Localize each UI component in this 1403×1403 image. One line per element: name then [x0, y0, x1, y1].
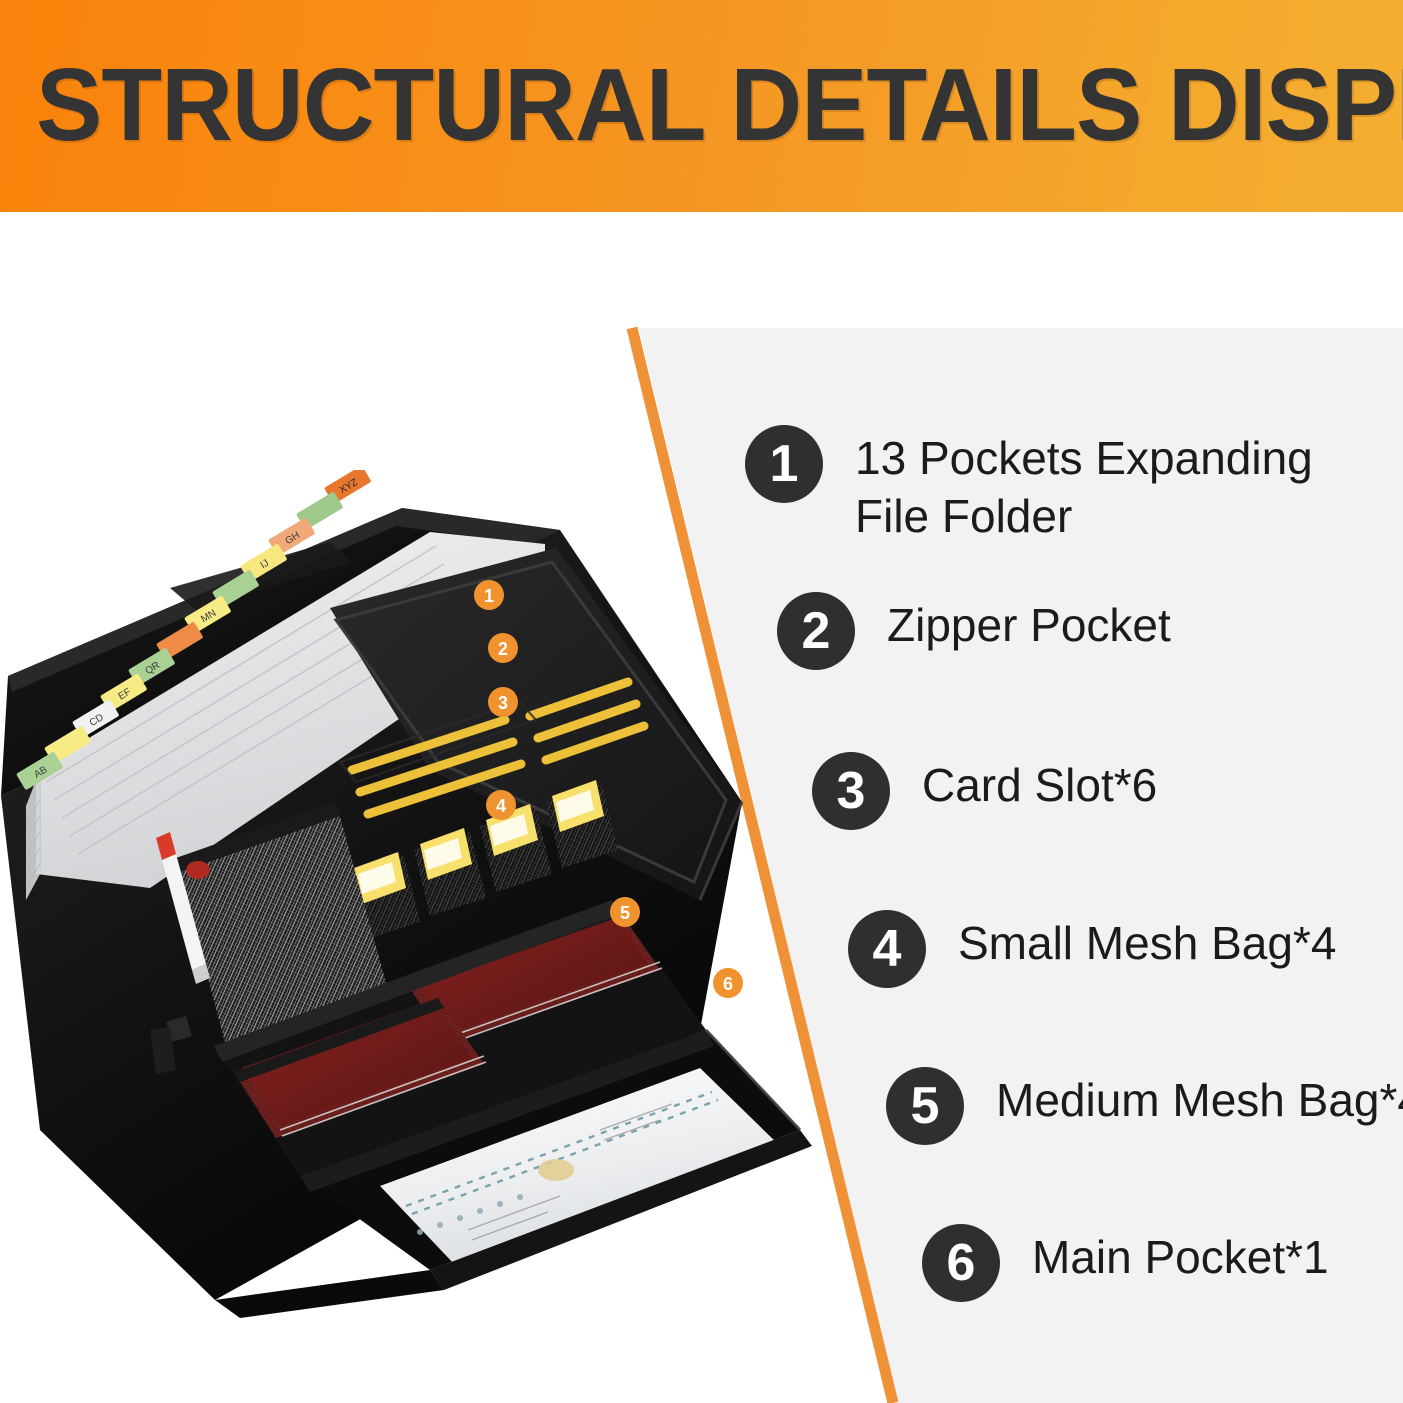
feature-label-3: Card Slot*6	[922, 752, 1157, 814]
feature-item-5: 5 Medium Mesh Bag*4	[886, 1067, 1403, 1145]
feature-label-5: Medium Mesh Bag*4	[996, 1067, 1403, 1129]
photo-callout-3: 3	[488, 687, 518, 717]
feature-badge-6: 6	[922, 1224, 1000, 1302]
feature-label-4: Small Mesh Bag*4	[958, 910, 1336, 972]
svg-text:5: 5	[620, 903, 630, 923]
feature-badge-1: 1	[745, 425, 823, 503]
photo-callout-6: 6	[713, 968, 743, 998]
svg-text:6: 6	[723, 974, 733, 994]
feature-item-4: 4 Small Mesh Bag*4	[848, 910, 1336, 988]
page-title: STRUCTURAL DETAILS DISPLAY	[36, 52, 1339, 158]
photo-callout-4: 4	[486, 790, 516, 820]
svg-text:1: 1	[484, 586, 494, 606]
svg-text:4: 4	[496, 796, 506, 816]
svg-text:2: 2	[498, 639, 508, 659]
feature-label-6: Main Pocket*1	[1032, 1224, 1329, 1286]
feature-item-3: 3 Card Slot*6	[812, 752, 1157, 830]
feature-badge-4: 4	[848, 910, 926, 988]
product-photo: XYZ GH IJ MN	[0, 470, 840, 1320]
header-banner: STRUCTURAL DETAILS DISPLAY	[0, 0, 1403, 212]
feature-label-2: Zipper Pocket	[887, 592, 1171, 654]
feature-badge-2: 2	[777, 592, 855, 670]
photo-callout-2: 2	[488, 633, 518, 663]
feature-item-1: 1 13 Pockets Expanding File Folder	[745, 425, 1313, 545]
feature-badge-5: 5	[886, 1067, 964, 1145]
svg-text:3: 3	[498, 693, 508, 713]
feature-item-2: 2 Zipper Pocket	[777, 592, 1171, 670]
feature-label-1: 13 Pockets Expanding File Folder	[855, 425, 1313, 545]
infographic-page: STRUCTURAL DETAILS DISPLAY	[0, 0, 1403, 1403]
photo-callout-5: 5	[610, 897, 640, 927]
feature-badge-3: 3	[812, 752, 890, 830]
feature-item-6: 6 Main Pocket*1	[922, 1224, 1329, 1302]
photo-callout-1: 1	[474, 580, 504, 610]
